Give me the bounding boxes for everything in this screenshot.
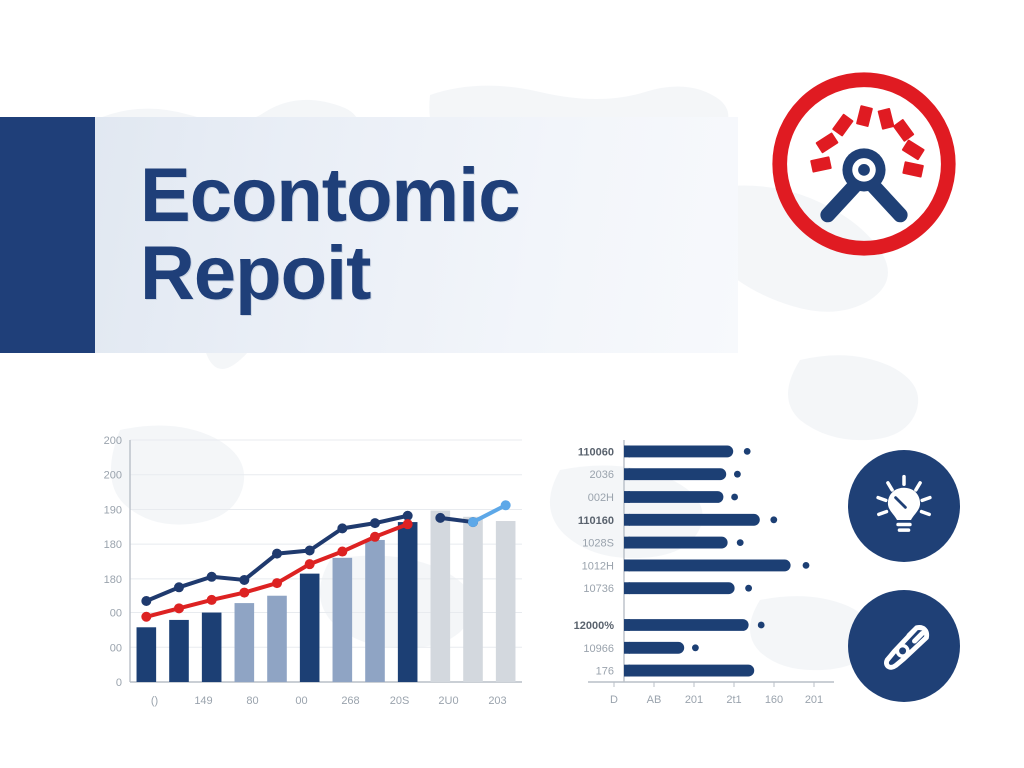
bar-cap [624,559,630,571]
value-marker[interactable] [692,644,699,651]
line-marker[interactable] [174,582,184,592]
category-label: 10736 [583,583,614,595]
value-marker[interactable] [731,494,738,501]
report-title-block: Econtomic Repoit [95,117,738,353]
report-header-banner: Econtomic Repoit [0,117,738,353]
bar-cap [624,514,630,526]
bar-cap [624,619,630,631]
bar-cap [624,537,630,549]
category-label: 1012H [582,560,614,572]
x-axis-tick-label: D [610,694,618,706]
banner-accent-block [0,117,95,353]
line-marker[interactable] [305,559,315,569]
line-marker[interactable] [403,519,413,529]
x-axis-tick-label: 149 [194,695,212,707]
line-marker[interactable] [370,532,380,542]
bar-cap [624,642,630,654]
bar[interactable] [496,521,516,682]
line-marker[interactable] [337,523,347,533]
ranking-bar-chart: DAB2012t11602011100602036002H1101601028S… [548,432,838,724]
x-axis-tick-label: 2U0 [438,695,458,707]
report-page: Econtomic Repoit [0,0,1024,768]
bar[interactable] [624,619,749,631]
bar[interactable] [202,613,222,682]
y-axis-tick-label: 200 [104,435,122,447]
bar[interactable] [267,596,287,682]
line-marker[interactable] [141,596,151,606]
value-marker[interactable] [770,516,777,523]
y-axis-tick-label: 0 [116,677,122,689]
page-title-line-2: Repoit [140,237,738,311]
x-axis-tick-label: 203 [488,695,506,707]
line-series [473,505,506,522]
y-axis-tick-label: 180 [104,539,122,551]
line-marker[interactable] [207,572,217,582]
x-axis-tick-label: 20S [390,695,410,707]
value-marker[interactable] [737,539,744,546]
lightbulb-idea-icon[interactable] [848,450,960,562]
bar-cap [624,665,630,677]
bar[interactable] [624,537,728,549]
bar[interactable] [624,582,735,594]
line-marker[interactable] [435,513,445,523]
line-marker[interactable] [337,547,347,557]
x-axis-tick-label: 268 [341,695,359,707]
x-axis-tick-label: 201 [805,694,823,706]
gauge-meter-icon [766,66,962,262]
bar[interactable] [624,642,684,654]
line-marker[interactable] [370,518,380,528]
line-marker[interactable] [468,517,478,527]
bar[interactable] [624,665,754,677]
category-label: 002H [588,492,614,504]
y-axis-tick-label: 00 [110,642,122,654]
bar[interactable] [624,491,723,503]
y-axis-tick-label: 200 [104,470,122,482]
x-axis-tick-label: 2t1 [726,694,741,706]
wrench-tool-icon[interactable] [848,590,960,702]
x-axis-tick-label: () [151,695,158,707]
value-marker[interactable] [803,562,810,569]
category-label: 176 [596,666,614,678]
line-marker[interactable] [141,612,151,622]
value-marker[interactable] [744,448,751,455]
bar-cap [624,468,630,480]
category-label: 2036 [590,469,614,481]
page-title-line-1: Econtomic [140,159,738,233]
bar[interactable] [398,522,418,682]
y-axis-tick-label: 180 [104,574,122,586]
bar[interactable] [463,517,483,682]
x-axis-tick-label: 00 [295,695,307,707]
line-marker[interactable] [272,578,282,588]
bar-cap [624,491,630,503]
line-marker[interactable] [239,588,249,598]
line-marker[interactable] [305,545,315,555]
y-axis-tick-label: 00 [110,608,122,620]
x-axis-tick-label: 80 [246,695,258,707]
bar[interactable] [235,603,255,682]
value-marker[interactable] [758,622,765,629]
bar[interactable] [624,445,733,457]
bar[interactable] [624,514,760,526]
category-label: 110160 [578,515,614,527]
line-marker[interactable] [501,500,511,510]
bar[interactable] [137,627,157,682]
y-axis-tick-label: 190 [104,504,122,516]
bar-cap [624,445,630,457]
bar[interactable] [333,558,353,682]
bar[interactable] [365,540,385,682]
x-axis-tick-label: 201 [685,694,703,706]
bar[interactable] [624,559,791,571]
category-label: 110060 [578,446,614,458]
category-label: 1028S [582,538,614,550]
category-label: 12000% [574,620,615,632]
bar-cap [624,582,630,594]
line-marker[interactable] [207,595,217,605]
bar[interactable] [431,510,451,682]
line-marker[interactable] [239,575,249,585]
line-marker[interactable] [272,549,282,559]
category-label: 10966 [583,643,614,655]
value-marker[interactable] [734,471,741,478]
bar[interactable] [300,574,320,682]
x-axis-tick-label: 160 [765,694,783,706]
bar[interactable] [624,468,726,480]
bar[interactable] [169,620,189,682]
value-marker[interactable] [745,585,752,592]
x-axis-tick-label: AB [647,694,662,706]
growth-combo-chart: 20020019018018000000()149800026820S2U020… [84,432,524,724]
line-marker[interactable] [174,603,184,613]
